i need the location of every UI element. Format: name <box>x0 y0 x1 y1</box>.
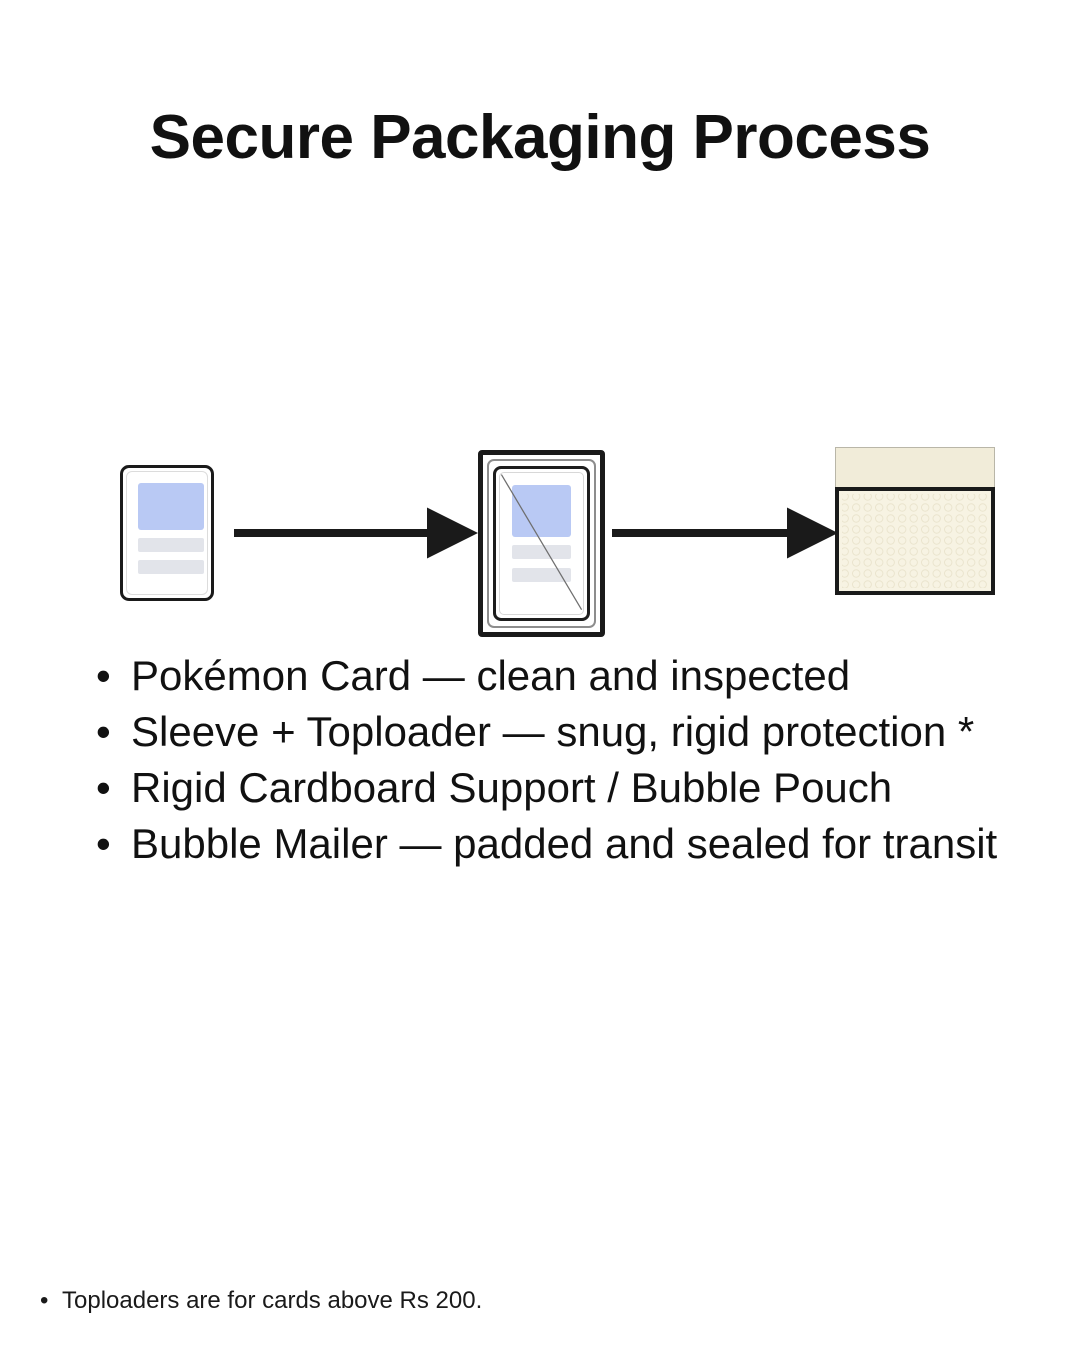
list-item-label: Rigid Cardboard Support / Bubble Pouch <box>131 760 892 816</box>
list-item: • Bubble Mailer — padded and sealed for … <box>96 816 1056 872</box>
page-title: Secure Packaging Process <box>0 104 1080 172</box>
footnote: • Toploaders are for cards above Rs 200. <box>40 1284 940 1318</box>
packaging-steps-list: • Pokémon Card — clean and inspected • S… <box>96 648 1056 872</box>
diagram-arrows <box>0 430 1080 645</box>
list-item-label: Pokémon Card — clean and inspected <box>131 648 850 704</box>
bullet-marker: • <box>96 704 131 760</box>
bullet-marker: • <box>40 1284 62 1318</box>
list-item-label: Bubble Mailer — padded and sealed for tr… <box>131 816 997 872</box>
bullet-marker: • <box>96 648 131 704</box>
footnote-label: Toploaders are for cards above Rs 200. <box>62 1284 482 1318</box>
list-item: • Rigid Cardboard Support / Bubble Pouch <box>96 760 1056 816</box>
packaging-process-diagram <box>0 430 1080 645</box>
list-item: • Sleeve + Toploader — snug, rigid prote… <box>96 704 1056 760</box>
bullet-marker: • <box>96 816 131 872</box>
bullet-marker: • <box>96 760 131 816</box>
list-item: • Pokémon Card — clean and inspected <box>96 648 1056 704</box>
footnote-item: • Toploaders are for cards above Rs 200. <box>40 1284 940 1318</box>
list-item-label: Sleeve + Toploader — snug, rigid protect… <box>131 704 974 760</box>
